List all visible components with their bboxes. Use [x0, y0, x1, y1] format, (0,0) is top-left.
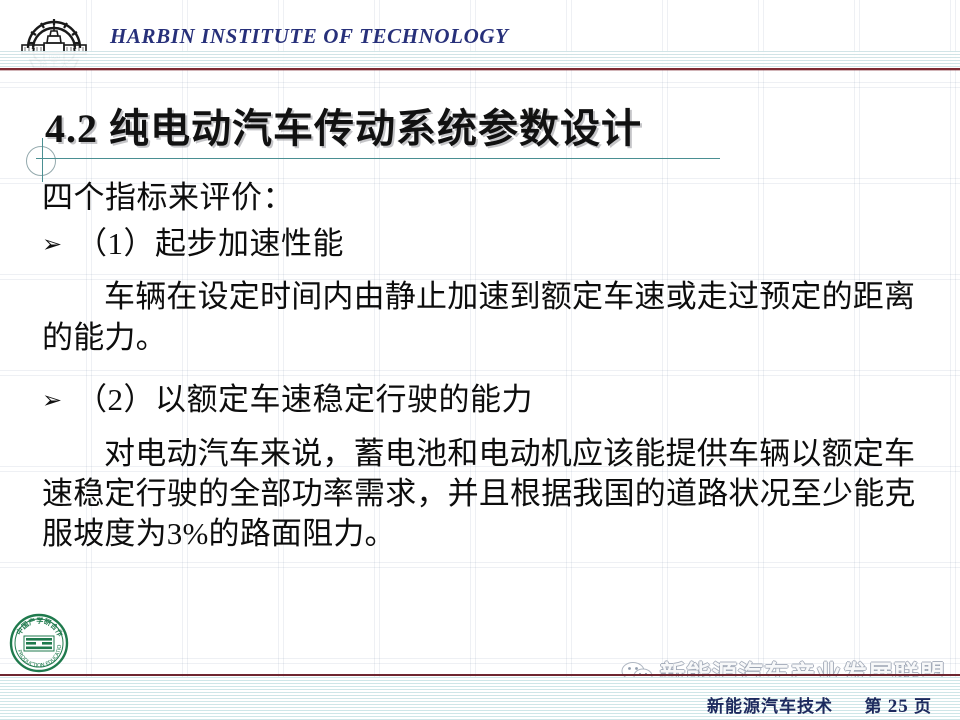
header-stripe-band — [0, 51, 960, 68]
page-number: 25 — [888, 696, 909, 717]
arrow-bullet-icon: ➢ — [42, 388, 76, 412]
list-item-paragraph: 对电动汽车来说，蓄电池和电动机应该能提供车辆以额定车速稳定行驶的全部功率需求，并… — [42, 434, 932, 555]
list-item-paragraph: 车辆在设定时间内由静止加速到额定车速或走过预定的距离的能力。 — [42, 277, 932, 358]
footer-accent-rule — [0, 674, 960, 676]
page-prefix-label: 第 — [865, 697, 883, 716]
title-circle-decoration — [26, 146, 56, 176]
arrow-bullet-icon: ➢ — [42, 232, 76, 256]
list-item: ➢ （2）以额定车速稳定行驶的能力 — [42, 380, 932, 420]
green-circular-seal-icon: 中国产学研合作 PRODUCTION EDUCATION RESEARCH — [8, 612, 70, 674]
title-underline — [36, 158, 720, 159]
slide-canvas: 1920 哈 工 大 HARBIN INSTITUTE OF TECHNOLOG… — [0, 0, 960, 720]
slide-body: 四个指标来评价： ➢ （1）起步加速性能 车辆在设定时间内由静止加速到额定车速或… — [42, 178, 932, 559]
institution-title: HARBIN INSTITUTE OF TECHNOLOGY — [110, 24, 509, 49]
footer-course-label: 新能源汽车技术 — [707, 697, 833, 716]
list-item-heading: （2）以额定车速稳定行驶的能力 — [76, 380, 533, 420]
title-vertical-accent — [42, 138, 43, 182]
footer: 新能源汽车技术 第 25 页 — [0, 692, 932, 718]
body-lead: 四个指标来评价： — [42, 178, 932, 218]
page-suffix-label: 页 — [914, 697, 932, 716]
header-accent-rule-shadow — [0, 70, 960, 71]
page-title: 4.2 纯电动汽车传动系统参数设计 — [45, 96, 642, 154]
list-item-heading: （1）起步加速性能 — [76, 224, 344, 264]
list-item: ➢ （1）起步加速性能 — [42, 224, 932, 264]
